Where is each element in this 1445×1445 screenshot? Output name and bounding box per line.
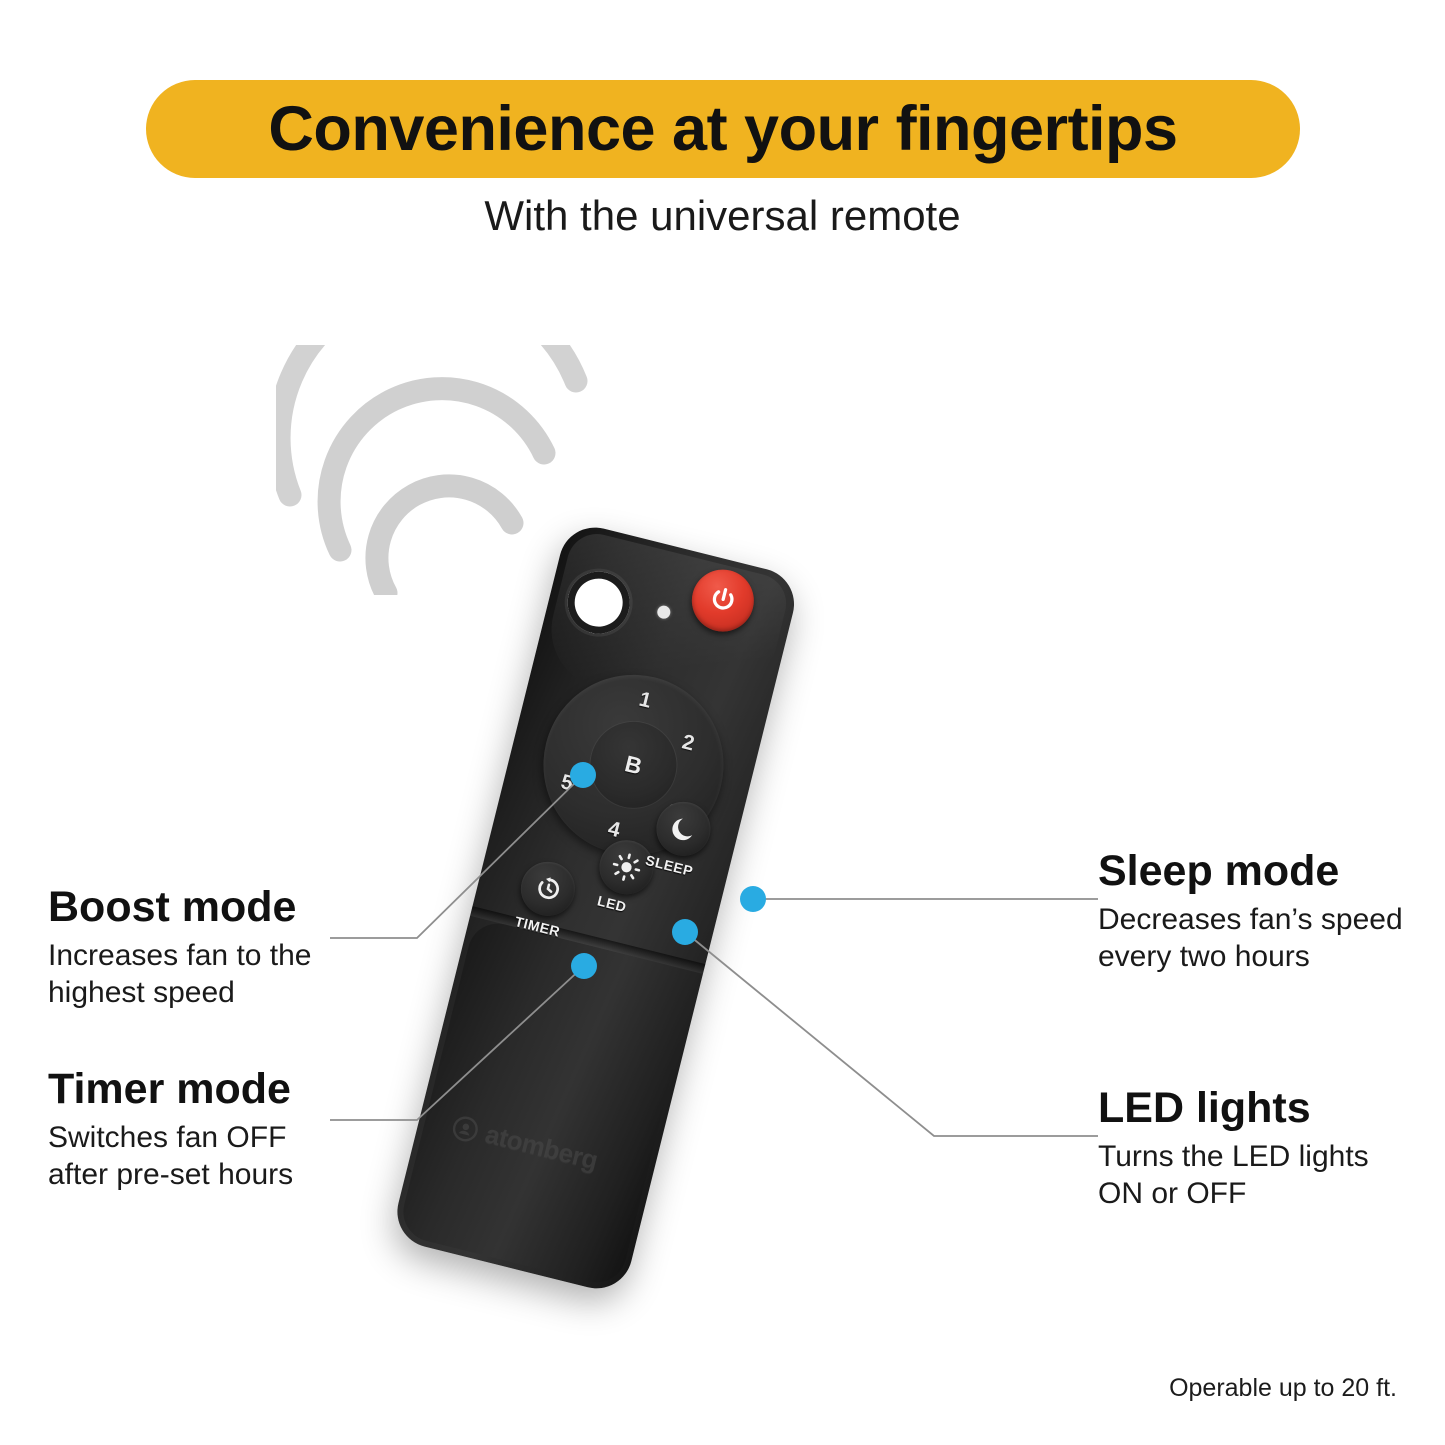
callout-desc-led: Turns the LED lights ON or OFF — [1098, 1138, 1428, 1214]
callout-label-boost: Boost mode Increases fan to the highest … — [48, 885, 468, 1012]
callout-label-sleep: Sleep mode Decreases fan’s speed every t… — [1098, 849, 1428, 976]
footnote-text: Operable up to 20 ft. — [1169, 1374, 1397, 1403]
callout-desc-line: ON or OFF — [1098, 1175, 1428, 1213]
callout-desc-line: Turns the LED lights — [1098, 1138, 1428, 1176]
callout-desc-line: Increases fan to the — [48, 937, 468, 975]
callout-desc-timer: Switches fan OFF after pre-set hours — [48, 1119, 468, 1195]
callout-dot-sleep[interactable] — [740, 886, 766, 912]
callout-desc-line: every two hours — [1098, 938, 1428, 976]
callout-desc-line: after pre-set hours — [48, 1156, 468, 1194]
callout-dot-led[interactable] — [672, 919, 698, 945]
callout-label-timer: Timer mode Switches fan OFF after pre-se… — [48, 1067, 468, 1194]
callout-desc-line: Decreases fan’s speed — [1098, 901, 1428, 939]
callout-desc-sleep: Decreases fan’s speed every two hours — [1098, 901, 1428, 977]
callout-leader-lines — [0, 0, 1445, 1445]
callout-title-led: LED lights — [1098, 1086, 1428, 1132]
callout-title-sleep: Sleep mode — [1098, 849, 1428, 895]
callout-desc-line: Switches fan OFF — [48, 1119, 468, 1157]
callout-line-led — [685, 932, 1098, 1136]
callout-title-boost: Boost mode — [48, 885, 468, 931]
callout-label-led: LED lights Turns the LED lights ON or OF… — [1098, 1086, 1428, 1213]
callout-title-timer: Timer mode — [48, 1067, 468, 1113]
callout-desc-boost: Increases fan to the highest speed — [48, 937, 468, 1013]
callout-dot-timer[interactable] — [571, 953, 597, 979]
callout-desc-line: highest speed — [48, 974, 468, 1012]
callout-dot-boost[interactable] — [570, 762, 596, 788]
